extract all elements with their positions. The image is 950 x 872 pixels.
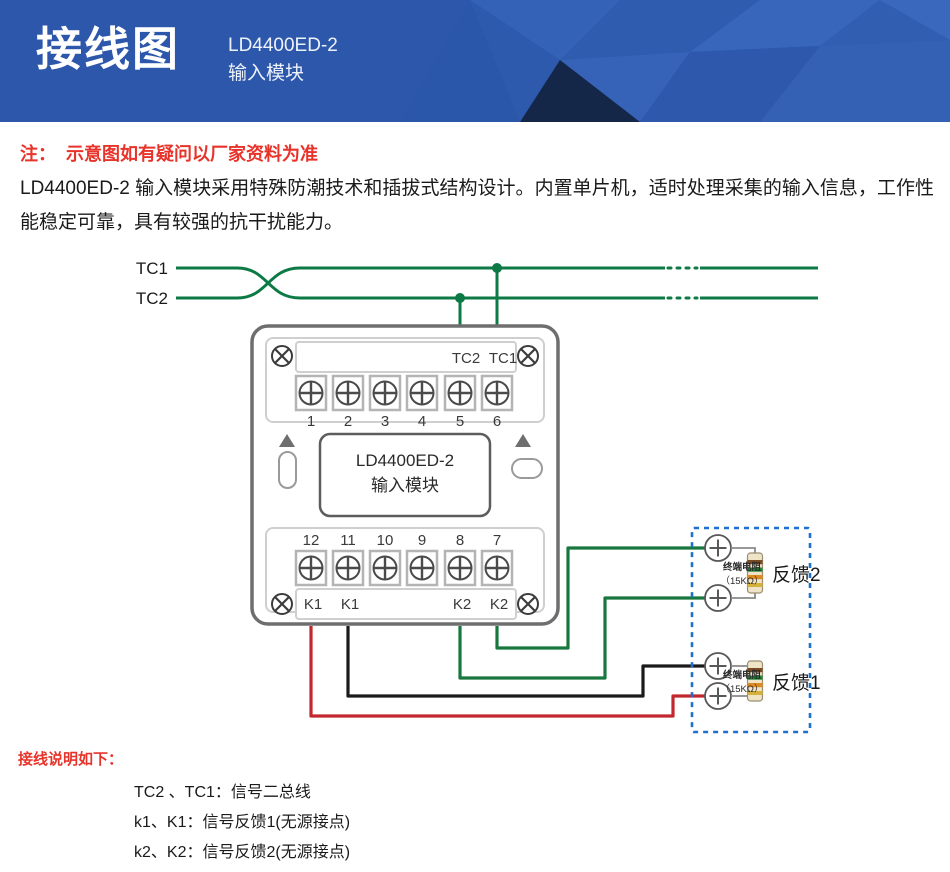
terminal-number-5: 5 — [456, 413, 464, 430]
legend-row-k2: k2、K2：信号反馈2(无源接点) — [134, 838, 518, 868]
terminal-number-9: 9 — [418, 532, 426, 549]
terminal-number-1: 1 — [307, 413, 315, 430]
corner-screw-icon — [272, 346, 292, 366]
resistor-icon — [748, 661, 763, 701]
module-name-text: 输入模块 — [371, 476, 439, 495]
terminal-number-2: 2 — [344, 413, 352, 430]
header-model: LD4400ED-2 — [228, 32, 338, 60]
terminal-screw-icon[interactable] — [333, 551, 363, 585]
bottom-label-k1-b: K1 — [341, 596, 359, 613]
legend-row-k1: k1、K1：信号反馈1(无源接点) — [134, 808, 518, 838]
legend-row-tc: TC2 、TC1：信号二总线 — [134, 778, 518, 808]
note-line: 注：示意图如有疑问以厂家资料为准 — [20, 140, 930, 166]
wire-k1-b — [311, 626, 705, 716]
corner-screw-icon — [518, 594, 538, 614]
terminal-screw-icon[interactable] — [296, 376, 326, 410]
feedback2-resistor-label: 终端电阻 — [722, 561, 762, 573]
diagram-canvas: TC1 TC2 TC2 TC1 — [0, 248, 950, 758]
header-subtitle-group: LD4400ED-2 输入模块 — [228, 32, 338, 88]
module-label-box — [320, 434, 490, 516]
terminal-number-6: 6 — [493, 413, 501, 430]
terminal-number-7: 7 — [493, 532, 501, 549]
resistor-icon — [748, 553, 763, 593]
bottom-label-k2-a: K2 — [453, 596, 471, 613]
bottom-label-k1-a: K1 — [304, 596, 322, 613]
terminal-screw-icon[interactable] — [370, 376, 400, 410]
note-text: 示意图如有疑问以厂家资料为准 — [66, 144, 318, 164]
terminal-screw-icon[interactable] — [407, 551, 437, 585]
terminal-screw-icon[interactable] — [333, 376, 363, 410]
feedback-screw-icon[interactable] — [705, 585, 731, 611]
terminal-number-4: 4 — [418, 413, 426, 430]
feedback1-name: 反馈1 — [772, 672, 821, 694]
legend-section: 接线说明如下： TC2 、TC1：信号二总线 k1、K1：信号反馈1(无源接点)… — [18, 748, 518, 868]
corner-screw-icon — [518, 346, 538, 366]
note-label: 注： — [20, 144, 56, 164]
terminal-screw-icon[interactable] — [482, 376, 512, 410]
page-title: 接线图 — [36, 26, 180, 72]
header-product-name: 输入模块 — [228, 60, 338, 88]
terminal-screw-icon[interactable] — [445, 551, 475, 585]
terminal-number-11: 11 — [340, 532, 356, 549]
corner-screw-icon — [272, 594, 292, 614]
module-device: TC2 TC1 1 2 3 4 — [252, 326, 558, 624]
terminal-number-3: 3 — [381, 413, 389, 430]
module-top-label-tc1: TC1 — [489, 350, 517, 367]
feedback-screw-icon[interactable] — [705, 535, 731, 561]
terminal-screw-icon[interactable] — [370, 551, 400, 585]
terminal-screw-icon[interactable] — [407, 376, 437, 410]
legend-title: 接线说明如下： — [18, 748, 518, 769]
terminal-screw-icon[interactable] — [482, 551, 512, 585]
terminal-number-8: 8 — [456, 532, 464, 549]
bus-label-tc2: TC2 — [136, 289, 168, 308]
right-slot-icon — [512, 459, 542, 478]
feedback2-resistor-value: （15KΩ） — [720, 575, 763, 587]
bottom-label-k2-b: K2 — [490, 596, 508, 613]
page-header: 接线图 LD4400ED-2 输入模块 — [0, 0, 950, 122]
feedback1-resistor-label: 终端电阻 — [722, 669, 762, 681]
feedback2-name: 反馈2 — [772, 564, 821, 586]
feedback-unit-2: 终端电阻 （15KΩ） 反馈2 — [705, 535, 821, 611]
module-model-text: LD4400ED-2 — [356, 451, 454, 470]
terminal-number-10: 10 — [377, 532, 394, 549]
module-top-label-tc2: TC2 — [452, 350, 480, 367]
terminal-screw-icon[interactable] — [296, 551, 326, 585]
terminal-number-12: 12 — [303, 532, 320, 549]
feedback-unit-1: 终端电阻 （15KΩ） 反馈1 — [705, 653, 821, 709]
feedback1-resistor-value: （15KΩ） — [720, 683, 763, 695]
product-description: LD4400ED-2 输入模块采用特殊防潮技术和插拔式结构设计。内置单片机，适时… — [20, 172, 934, 240]
wiring-diagram-page: 接线图 LD4400ED-2 输入模块 注：示意图如有疑问以厂家资料为准 LD4… — [0, 0, 950, 872]
terminal-screw-icon[interactable] — [445, 376, 475, 410]
wire-k1-a — [348, 626, 705, 696]
bus-label-tc1: TC1 — [136, 259, 168, 278]
left-slot-icon — [279, 452, 296, 488]
